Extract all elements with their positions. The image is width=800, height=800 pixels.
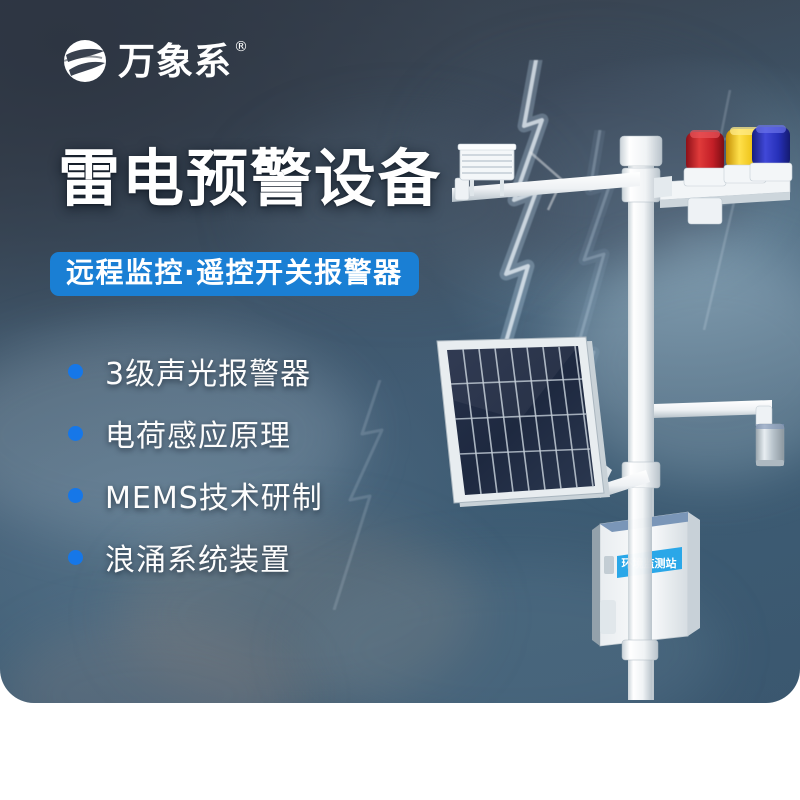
bullet-dot-icon bbox=[68, 426, 83, 441]
feature-label: MEMS技术研制 bbox=[105, 473, 323, 517]
lightning-bolt-icon bbox=[700, 90, 800, 330]
feature-item: 电荷感应原理 bbox=[68, 402, 323, 464]
bullet-dot-icon bbox=[68, 550, 83, 565]
feature-label: 3级声光报警器 bbox=[105, 349, 311, 393]
feature-item: MEMS技术研制 bbox=[68, 464, 323, 526]
feature-item: 3级声光报警器 bbox=[68, 340, 323, 402]
feature-list: 3级声光报警器 电荷感应原理 MEMS技术研制 浪涌系统装置 bbox=[68, 340, 323, 588]
footer-bar: 品质保障 bbox=[0, 703, 800, 800]
bullet-dot-icon bbox=[68, 364, 83, 379]
subtitle-badge: 远程监控·遥控开关报警器 bbox=[50, 252, 419, 296]
feature-item: 浪涌系统装置 bbox=[68, 526, 323, 588]
subtitle-text: 远程监控·遥控开关报警器 bbox=[66, 256, 403, 289]
feature-label: 电荷感应原理 bbox=[105, 411, 291, 455]
brand-name: 万象系 ® bbox=[118, 43, 232, 80]
brand-name-text: 万象系 bbox=[118, 40, 232, 83]
circular-swoosh-logo-icon bbox=[62, 38, 108, 84]
bullet-dot-icon bbox=[68, 488, 83, 503]
registered-trademark-symbol: ® bbox=[234, 40, 249, 54]
brand-logo: 万象系 ® bbox=[62, 38, 232, 84]
lightning-bolt-icon bbox=[560, 130, 680, 430]
product-poster: 环境监测站 万象系 ® 雷电预警设备 远程监控·遥控开关报警器 bbox=[0, 0, 800, 800]
page-title: 雷电预警设备 bbox=[58, 148, 442, 210]
feature-label: 浪涌系统装置 bbox=[105, 535, 291, 579]
